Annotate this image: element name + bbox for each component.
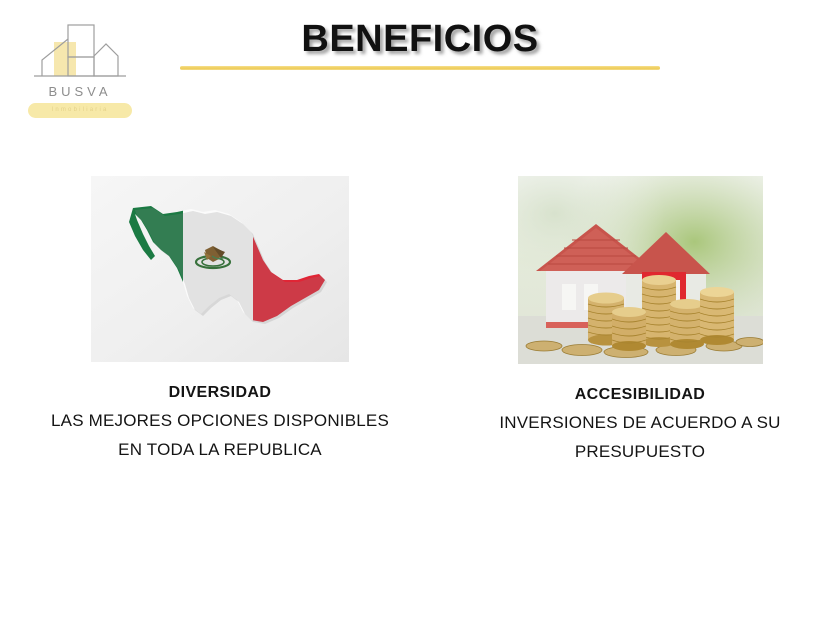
benefit-column-accesibilidad: ACCESIBILIDAD INVERSIONES DE ACUERDO A S… <box>455 176 825 466</box>
caption-line-2: EN TODA LA REPUBLICA <box>20 435 420 464</box>
caption-heading: DIVERSIDAD <box>20 380 420 406</box>
caption-line-1: INVERSIONES DE ACUERDO A SU <box>455 408 825 437</box>
benefit-column-diversidad: DIVERSIDAD LAS MEJORES OPCIONES DISPONIB… <box>20 176 420 464</box>
page-title: BENEFICIOS <box>0 18 840 61</box>
mexico-map-flag-photo <box>91 176 349 362</box>
logo-tagline: Inmobiliaria <box>28 103 132 118</box>
caption-line-1: LAS MEJORES OPCIONES DISPONIBLES <box>20 406 420 435</box>
title-underline-rule <box>180 66 660 70</box>
logo-tagline-bar: Inmobiliaria <box>28 103 132 118</box>
caption-diversidad: DIVERSIDAD LAS MEJORES OPCIONES DISPONIB… <box>20 380 420 464</box>
presentation-slide: BUSVA Inmobiliaria BENEFICIOS <box>0 0 840 630</box>
house-coins-photo <box>518 176 763 364</box>
caption-heading: ACCESIBILIDAD <box>455 382 825 408</box>
caption-line-2: PRESUPUESTO <box>455 437 825 466</box>
caption-accesibilidad: ACCESIBILIDAD INVERSIONES DE ACUERDO A S… <box>455 382 825 466</box>
logo-wordmark: BUSVA <box>24 84 136 99</box>
